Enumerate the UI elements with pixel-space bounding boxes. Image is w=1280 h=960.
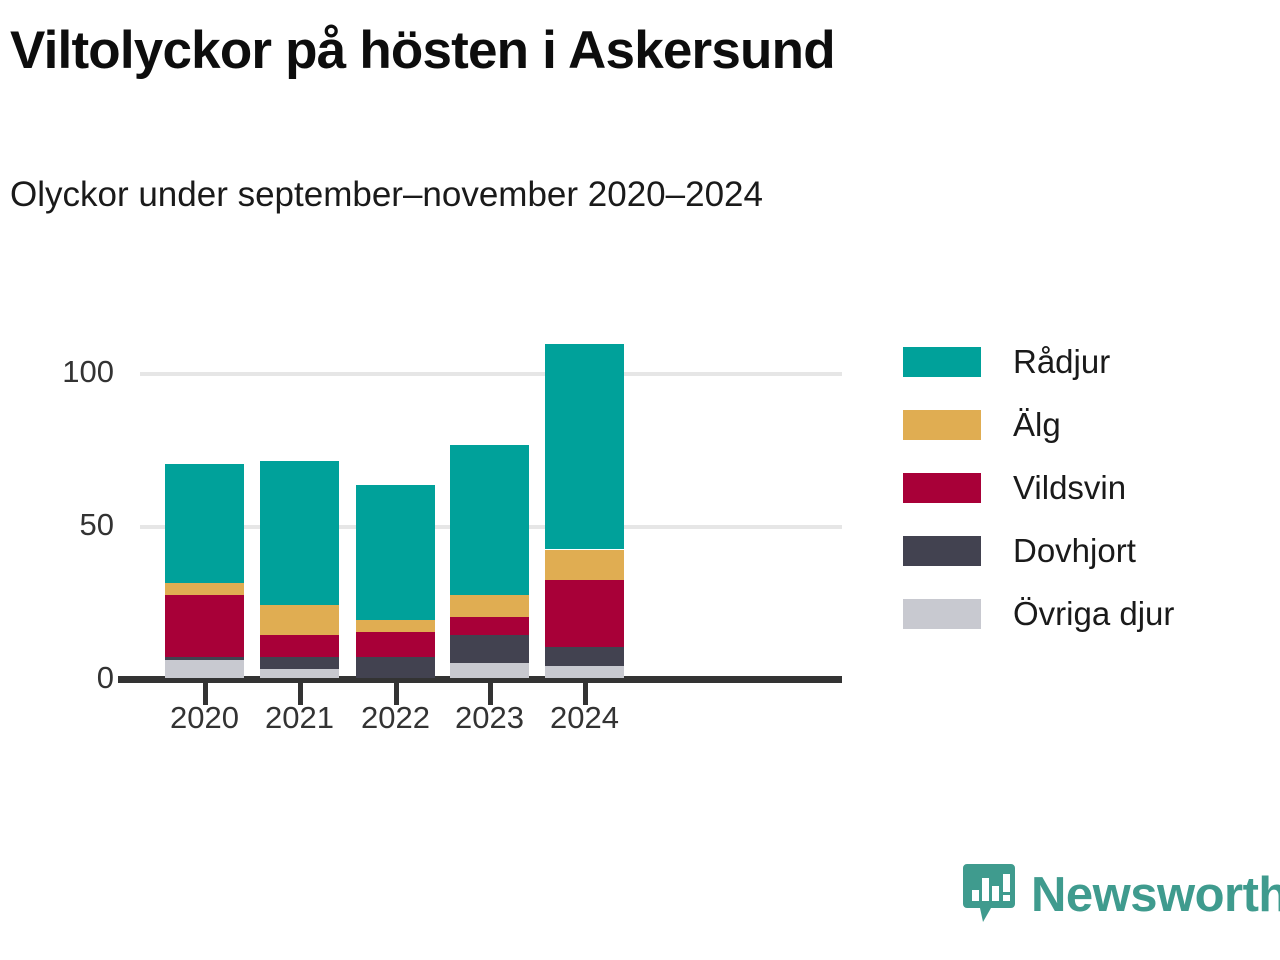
bar-segment-älg[interactable] (356, 620, 435, 632)
legend-swatch-icon (903, 347, 981, 377)
legend-item-label: Övriga djur (1013, 595, 1174, 633)
legend-item-label: Vildsvin (1013, 469, 1126, 507)
bar-segment-dovhjort[interactable] (450, 635, 529, 663)
legend-item-label: Dovhjort (1013, 532, 1136, 570)
legend-swatch-icon (903, 599, 981, 629)
bar-segment-dovhjort[interactable] (545, 647, 624, 665)
bar-segment-vildsvin[interactable] (545, 580, 624, 647)
bar-segment-dovhjort[interactable] (165, 657, 244, 660)
legend-swatch-icon (903, 473, 981, 503)
bar-segment-rådjur[interactable] (545, 344, 624, 549)
x-axis-tick-label: 2022 (361, 700, 430, 736)
bar-segment-älg[interactable] (545, 550, 624, 581)
bar-segment-dovhjort[interactable] (260, 657, 339, 669)
legend-swatch-icon (903, 410, 981, 440)
bar-segment-vildsvin[interactable] (165, 595, 244, 656)
bar-segment-vildsvin[interactable] (260, 635, 339, 656)
legend-item[interactable]: Älg (903, 393, 1174, 456)
bar-segment-rådjur[interactable] (165, 464, 244, 583)
bar-segment-vildsvin[interactable] (450, 617, 529, 635)
legend-swatch-icon (903, 536, 981, 566)
legend-item[interactable]: Vildsvin (903, 456, 1174, 519)
legend-item-label: Rådjur (1013, 343, 1110, 381)
bar-segment-rådjur[interactable] (450, 445, 529, 595)
newsworthy-logo: Newsworthy (963, 864, 1280, 926)
bar-column[interactable] (356, 0, 435, 678)
bar-segment-älg[interactable] (165, 583, 244, 595)
bar-column[interactable] (260, 0, 339, 678)
legend-item-label: Älg (1013, 406, 1061, 444)
bar-column[interactable] (545, 0, 624, 678)
bar-segment-övriga-djur[interactable] (545, 666, 624, 678)
bar-segment-vildsvin[interactable] (356, 632, 435, 656)
bar-segment-övriga-djur[interactable] (450, 663, 529, 678)
legend-item[interactable]: Rådjur (903, 330, 1174, 393)
legend-item[interactable]: Dovhjort (903, 519, 1174, 582)
newsworthy-logo-text: Newsworthy (1031, 867, 1280, 923)
chart-legend: RådjurÄlgVildsvinDovhjortÖvriga djur (903, 330, 1174, 645)
bar-segment-älg[interactable] (450, 595, 529, 616)
legend-item[interactable]: Övriga djur (903, 582, 1174, 645)
x-axis-tick-label: 2023 (455, 700, 524, 736)
bar-segment-rådjur[interactable] (356, 485, 435, 620)
x-axis-tick-label: 2021 (265, 700, 334, 736)
newsworthy-logo-icon (963, 864, 1015, 926)
bar-column[interactable] (165, 0, 244, 678)
bar-segment-älg[interactable] (260, 605, 339, 636)
bar-segment-övriga-djur[interactable] (165, 660, 244, 678)
x-axis-tick-label: 2024 (550, 700, 619, 736)
x-axis-tick-label: 2020 (170, 700, 239, 736)
bar-segment-dovhjort[interactable] (356, 657, 435, 678)
bar-segment-rådjur[interactable] (260, 461, 339, 605)
bar-column[interactable] (450, 0, 529, 678)
bar-segment-övriga-djur[interactable] (260, 669, 339, 678)
